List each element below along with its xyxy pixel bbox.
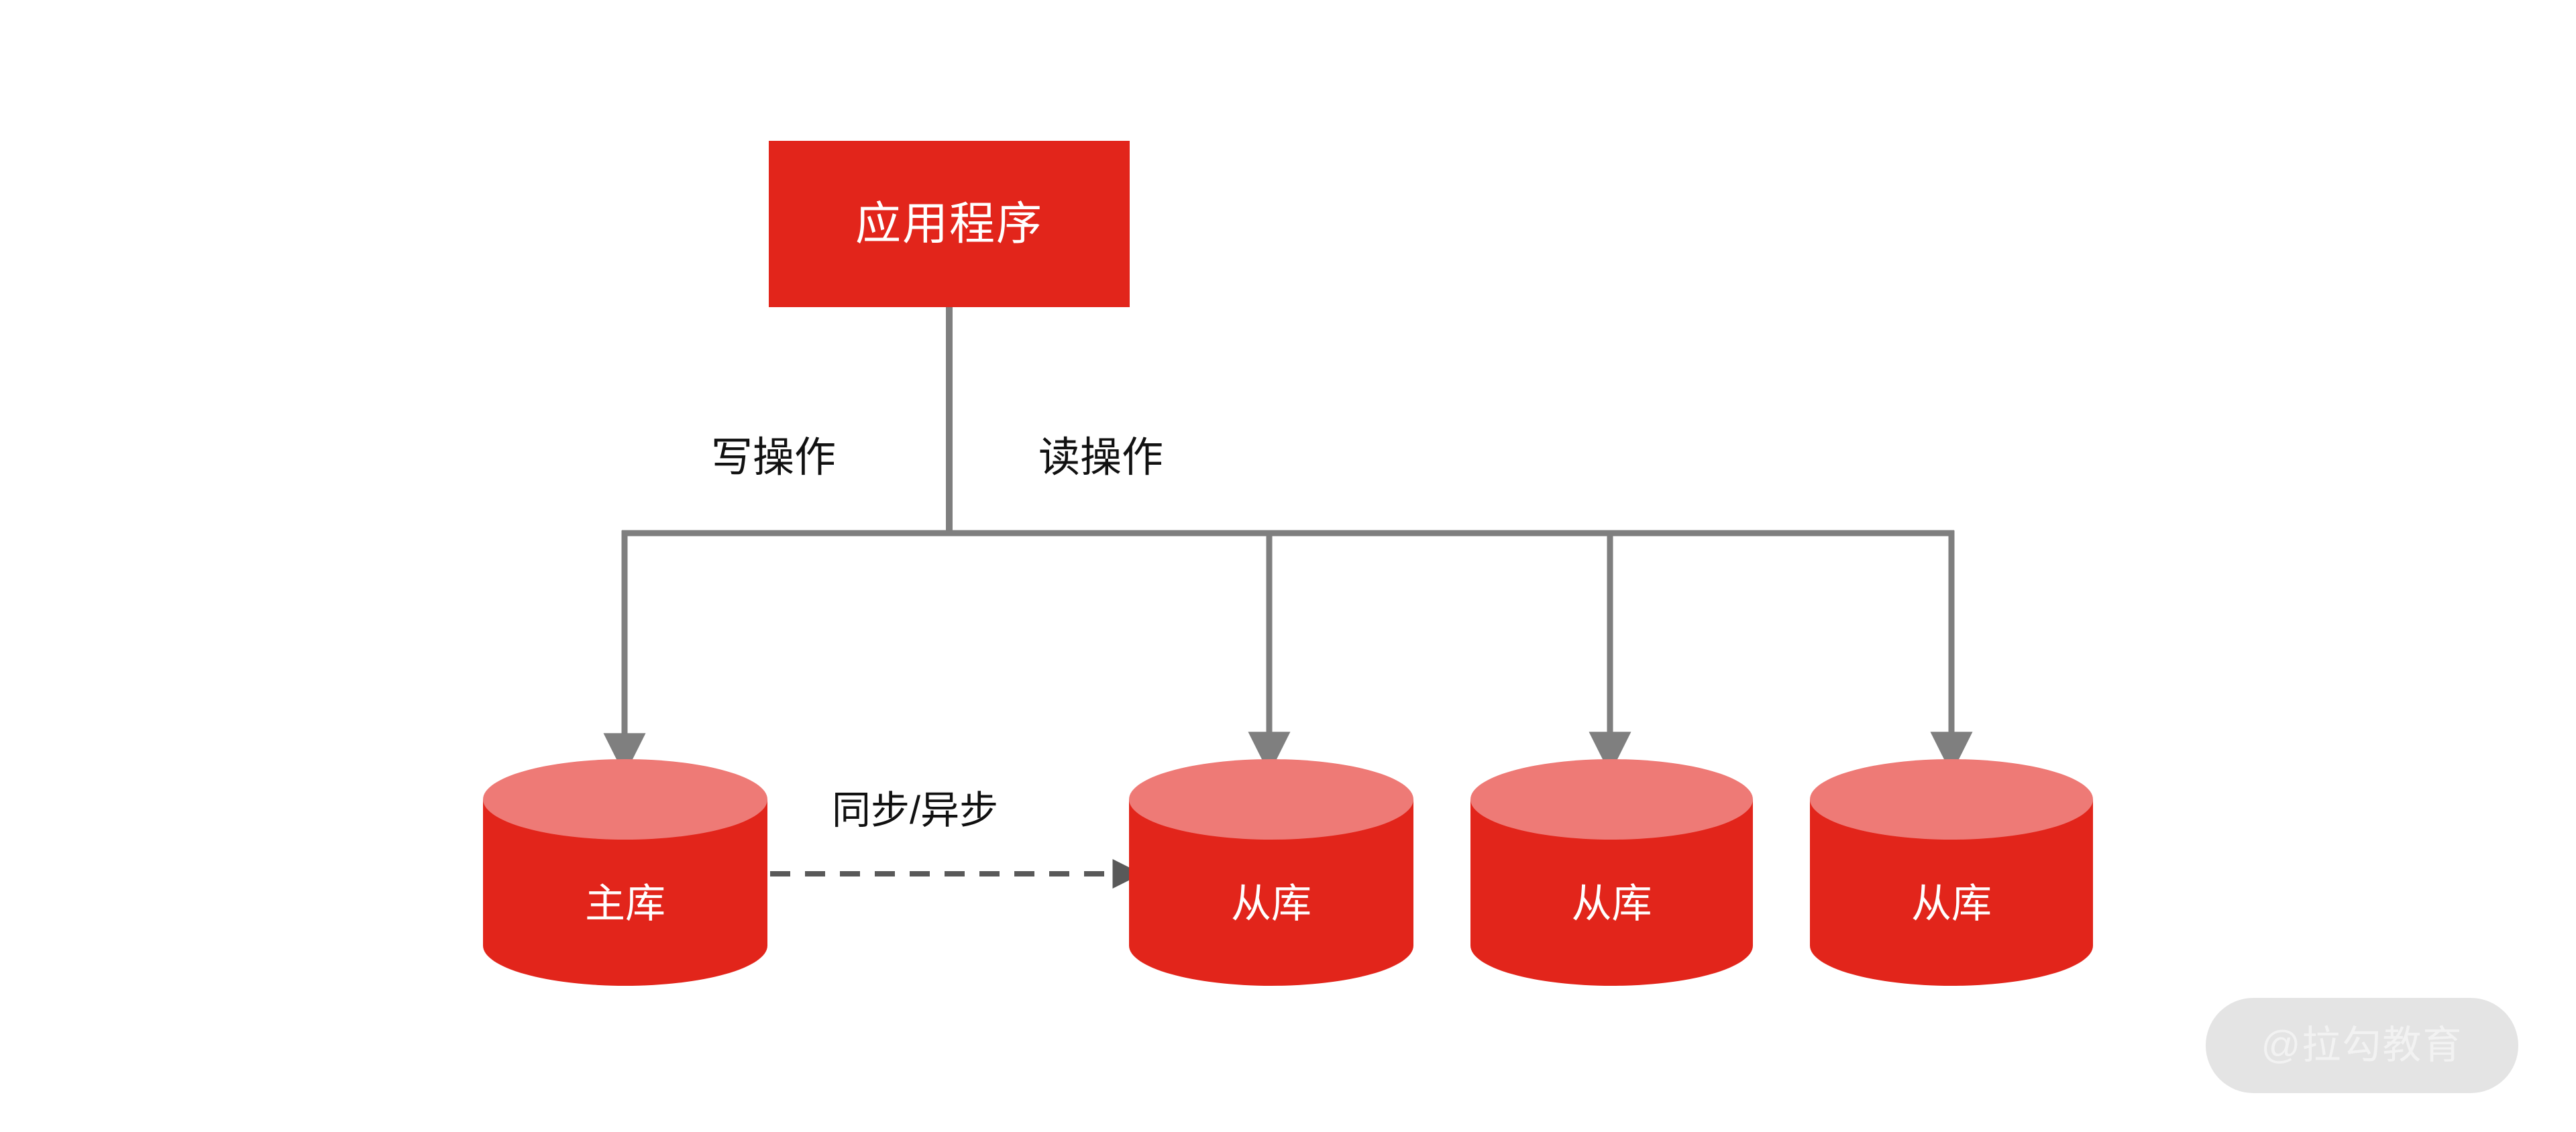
watermark-badge: @拉勾教育 <box>2206 998 2518 1093</box>
database-replica-1-label: 从库 <box>1129 884 1413 924</box>
database-replica-1[interactable]: 从库 <box>1129 759 1413 986</box>
primary-cylinder-top <box>483 759 767 840</box>
database-primary-label: 主库 <box>483 884 767 924</box>
replica-3-cylinder-top <box>1810 759 2093 840</box>
database-primary[interactable]: 主库 <box>483 759 767 986</box>
application-box[interactable]: 应用程序 <box>769 141 1130 307</box>
watermark-label: @拉勾教育 <box>2261 1026 2463 1065</box>
database-replica-3[interactable]: 从库 <box>1810 759 2093 986</box>
diagram-canvas: 应用程序 写操作 读操作 同步/异步 主库 从库 从库 从库 @拉勾教育 <box>0 0 2576 1132</box>
write-operation-label: 写操作 <box>711 437 836 479</box>
database-replica-3-label: 从库 <box>1810 884 2093 924</box>
application-label: 应用程序 <box>855 201 1043 247</box>
database-replica-2[interactable]: 从库 <box>1470 759 1753 986</box>
database-replica-2-label: 从库 <box>1470 884 1753 924</box>
replica-2-cylinder-top <box>1470 759 1753 840</box>
replication-mode-label: 同步/异步 <box>832 791 998 830</box>
replica-1-cylinder-top <box>1129 759 1413 840</box>
read-operation-label: 读操作 <box>1038 437 1163 479</box>
